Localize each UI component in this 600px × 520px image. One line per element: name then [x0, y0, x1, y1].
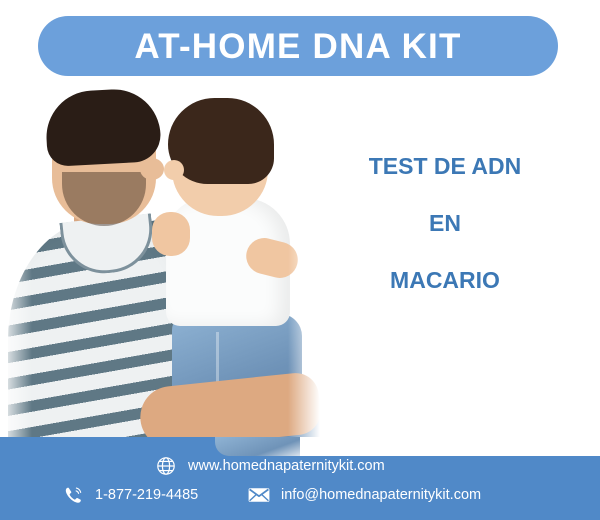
man-hair — [44, 87, 162, 167]
footer-email-text: info@homednapaternitykit.com — [281, 487, 481, 503]
phone-icon — [62, 484, 84, 506]
footer-email-row[interactable]: info@homednapaternitykit.com — [248, 484, 481, 506]
footer-website-row[interactable]: www.homednapaternitykit.com — [155, 455, 385, 477]
photo-composition — [0, 80, 320, 455]
footer-phone-text: 1-877-219-4485 — [95, 487, 198, 503]
page-title: AT-HOME DNA KIT — [134, 29, 461, 64]
envelope-icon — [248, 484, 270, 506]
child-nose — [164, 160, 184, 180]
photo-overlap-background — [300, 437, 600, 456]
header-banner: AT-HOME DNA KIT — [38, 16, 558, 76]
globe-icon — [155, 455, 177, 477]
footer-phone-row[interactable]: 1-877-219-4485 — [62, 484, 198, 506]
child-hand — [152, 212, 190, 256]
headline-line-3: MACARIO — [320, 269, 570, 292]
headline-line-1: TEST DE ADN — [320, 155, 570, 178]
dna-kit-promo-card: AT-HOME DNA KIT TEST DE ADN EN MACARI — [0, 0, 600, 520]
man-nose — [140, 158, 164, 180]
family-photo — [0, 80, 320, 455]
promo-headline: TEST DE ADN EN MACARIO — [320, 155, 570, 292]
footer-website-text: www.homednapaternitykit.com — [188, 458, 385, 474]
headline-line-2: EN — [320, 212, 570, 235]
